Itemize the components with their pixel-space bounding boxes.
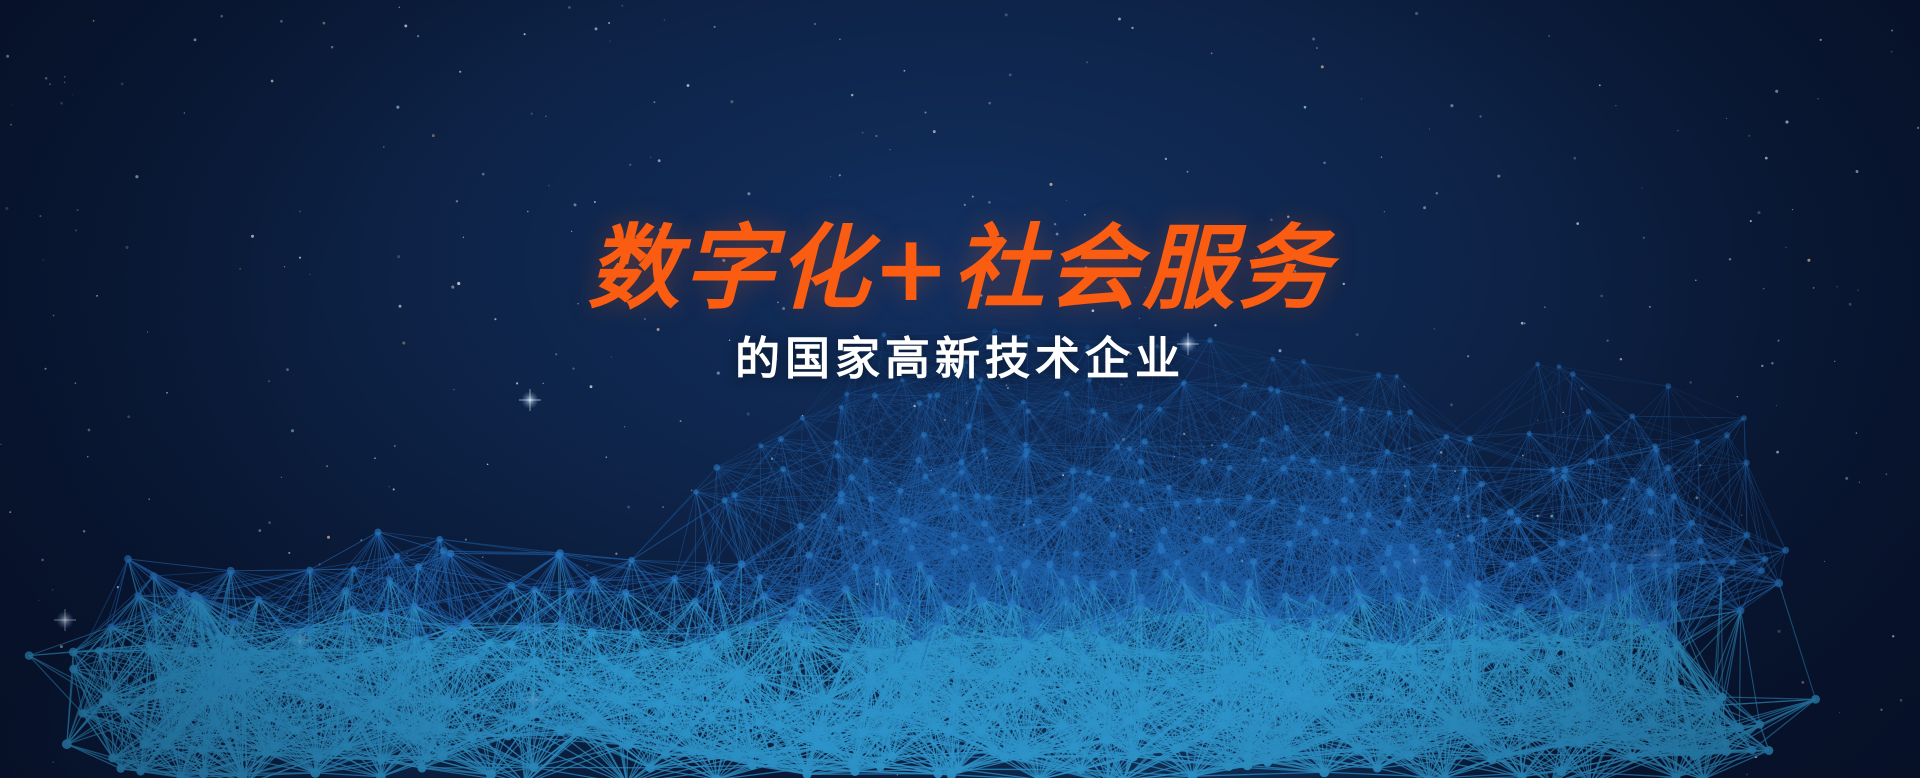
banner-subline: 的国家高新技术企业 <box>0 334 1920 384</box>
banner-headline: 数字化+社会服务 <box>0 222 1920 316</box>
hero-banner: 数字化+社会服务 的国家高新技术企业 <box>0 0 1920 778</box>
low-poly-network-mesh <box>0 0 1920 778</box>
banner-text-block: 数字化+社会服务 的国家高新技术企业 <box>0 222 1920 383</box>
